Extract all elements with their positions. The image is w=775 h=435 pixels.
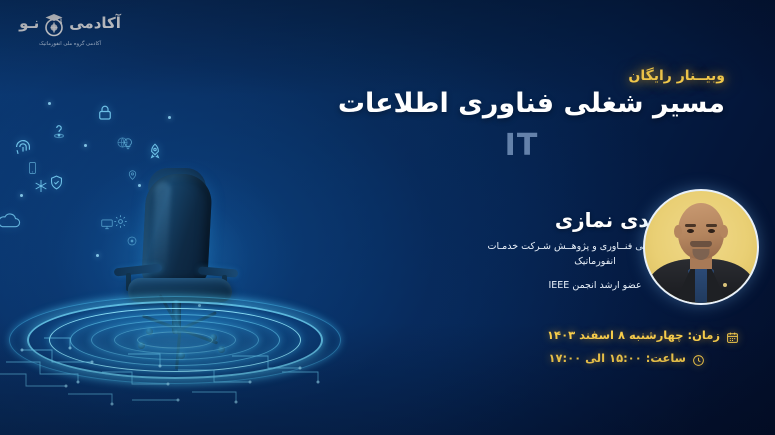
padlock-icon — [96, 104, 114, 126]
credential-text: عضو ارشد انجمن IEEE — [549, 280, 642, 291]
sparkle-dot — [84, 144, 87, 147]
fingerprint-icon — [12, 136, 34, 162]
schedule-time-text: ساعت: ۱۵:۰۰ الی ۱۷:۰۰ — [548, 351, 686, 365]
sparkle-dot — [96, 254, 99, 257]
brand-logo[interactable]: آکادمی نـو آکادمی گروه ملی انفورماتیک — [14, 8, 126, 47]
page-title: مسیر شغلی فناوری اطلاعات — [338, 88, 725, 119]
portrait-eye-left — [687, 229, 694, 233]
sparkle-dot — [48, 102, 51, 105]
sparkle-dot — [168, 116, 171, 119]
portrait-ear-right — [720, 225, 728, 238]
avatar — [643, 189, 759, 305]
portrait-lapel-pin — [723, 283, 727, 287]
brand-tagline: آکادمی گروه ملی انفورماتیک — [14, 41, 126, 47]
graduation-cap-icon — [41, 10, 67, 37]
headline-subtitle: IT — [294, 128, 749, 163]
portrait-mustache — [690, 241, 712, 247]
snowflake-icon — [33, 178, 49, 198]
portrait-ear-left — [674, 225, 682, 238]
schedule-block: زمان: چهارشنبه ۸ اسفند ۱۴۰۳ ساعت: ۱۵:۰۰ … — [529, 328, 739, 374]
eyebrow-label: وبیــنار رایگان — [628, 68, 725, 84]
globe-icon — [116, 134, 129, 153]
logo-word-left: نـو — [19, 16, 39, 31]
portrait-brow-right — [706, 224, 717, 227]
logo-word-right: آکادمی — [69, 16, 121, 31]
rocket-icon — [146, 142, 164, 164]
portrait-eye-right — [708, 229, 715, 233]
calendar-icon — [726, 329, 739, 342]
sparkle-dot — [20, 194, 23, 197]
question-mark-icon — [50, 122, 68, 144]
portrait-brow-left — [685, 224, 696, 227]
shield-check-icon — [48, 174, 65, 195]
clock-icon — [692, 352, 705, 365]
cloud-icon — [0, 212, 22, 234]
logo-row: آکادمی نـو — [14, 8, 126, 38]
webinar-banner: آکادمی نـو آکادمی گروه ملی انفورماتیک — [0, 0, 775, 435]
mobile-icon — [27, 160, 38, 179]
schedule-date-text: زمان: چهارشنبه ۸ اسفند ۱۴۰۳ — [547, 328, 720, 342]
schedule-date-row: زمان: چهارشنبه ۸ اسفند ۱۴۰۳ — [529, 328, 739, 342]
schedule-time-row: ساعت: ۱۵:۰۰ الی ۱۷:۰۰ — [529, 351, 739, 365]
